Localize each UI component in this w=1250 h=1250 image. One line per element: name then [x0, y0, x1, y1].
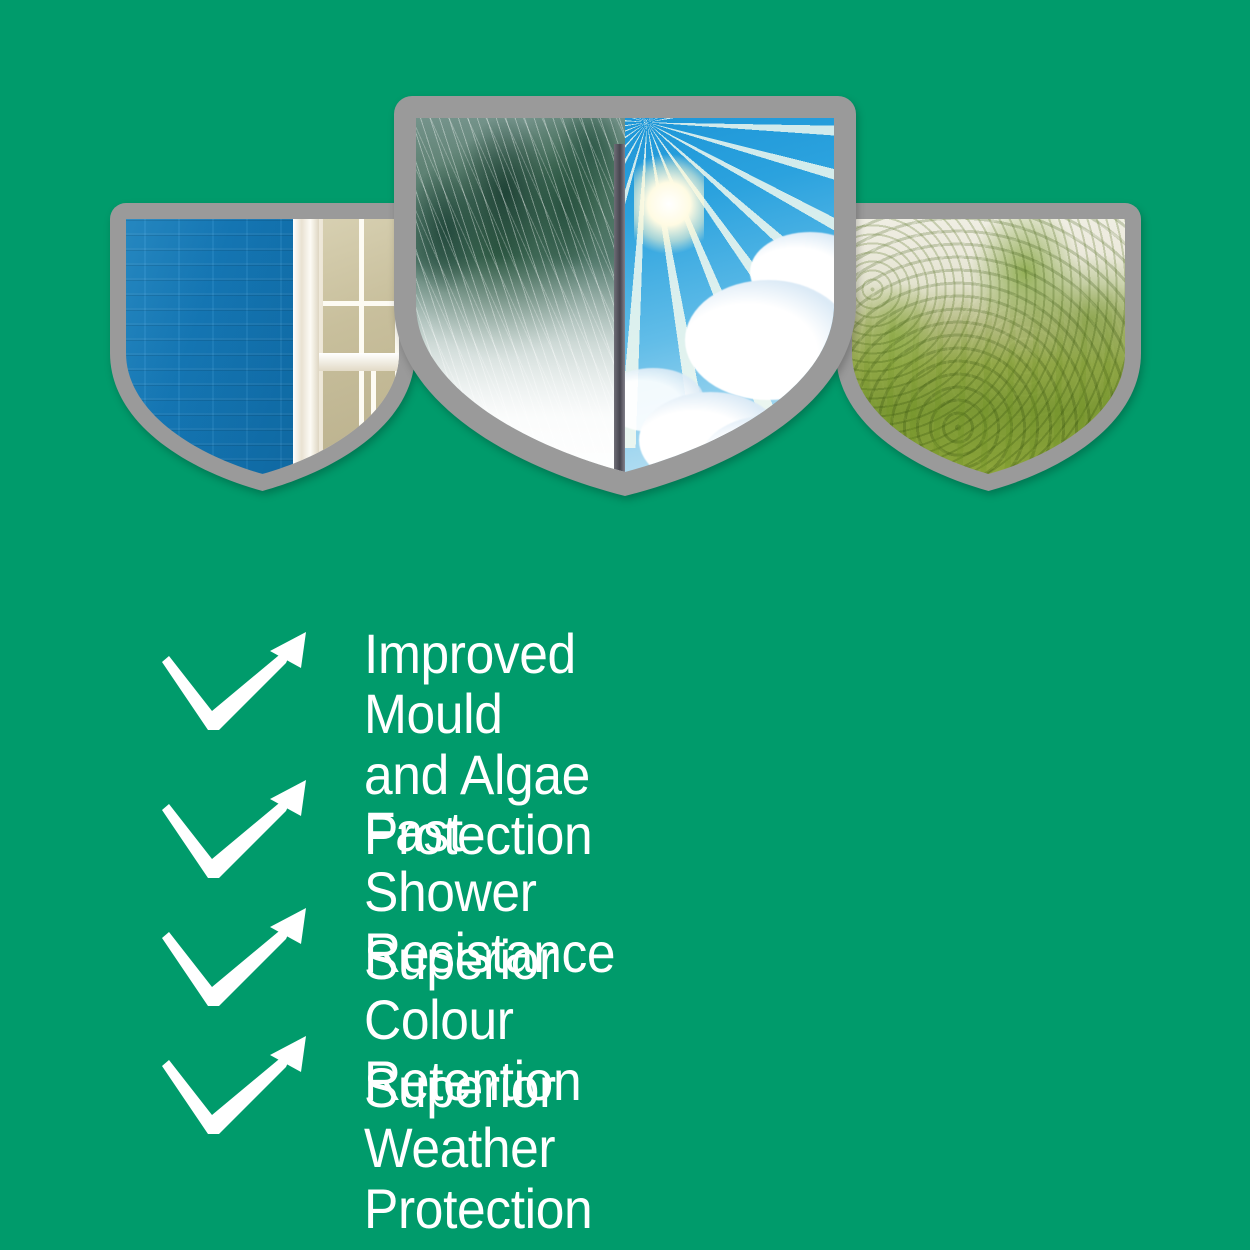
shield-illustration-group — [0, 0, 1250, 560]
product-benefits-panel: Improved Mould and Algae Protection Fast… — [0, 0, 1250, 1250]
check-arrow-icon — [158, 900, 328, 1020]
blue-brick-wall-photo — [110, 203, 415, 491]
check-arrow-icon — [158, 1028, 328, 1148]
benefit-label: Superior Weather Protection — [364, 1058, 592, 1239]
check-arrow-icon — [158, 772, 328, 892]
algae-wall-photo — [836, 203, 1141, 491]
shield-blue-brick-house — [110, 203, 415, 491]
shield-rain-and-sun — [394, 96, 856, 496]
shield-algae-growth — [836, 203, 1141, 491]
check-arrow-icon — [158, 624, 328, 744]
brick-wall-texture — [110, 203, 293, 491]
drainpipe — [614, 144, 625, 496]
rain-and-sun-photo — [394, 96, 856, 496]
